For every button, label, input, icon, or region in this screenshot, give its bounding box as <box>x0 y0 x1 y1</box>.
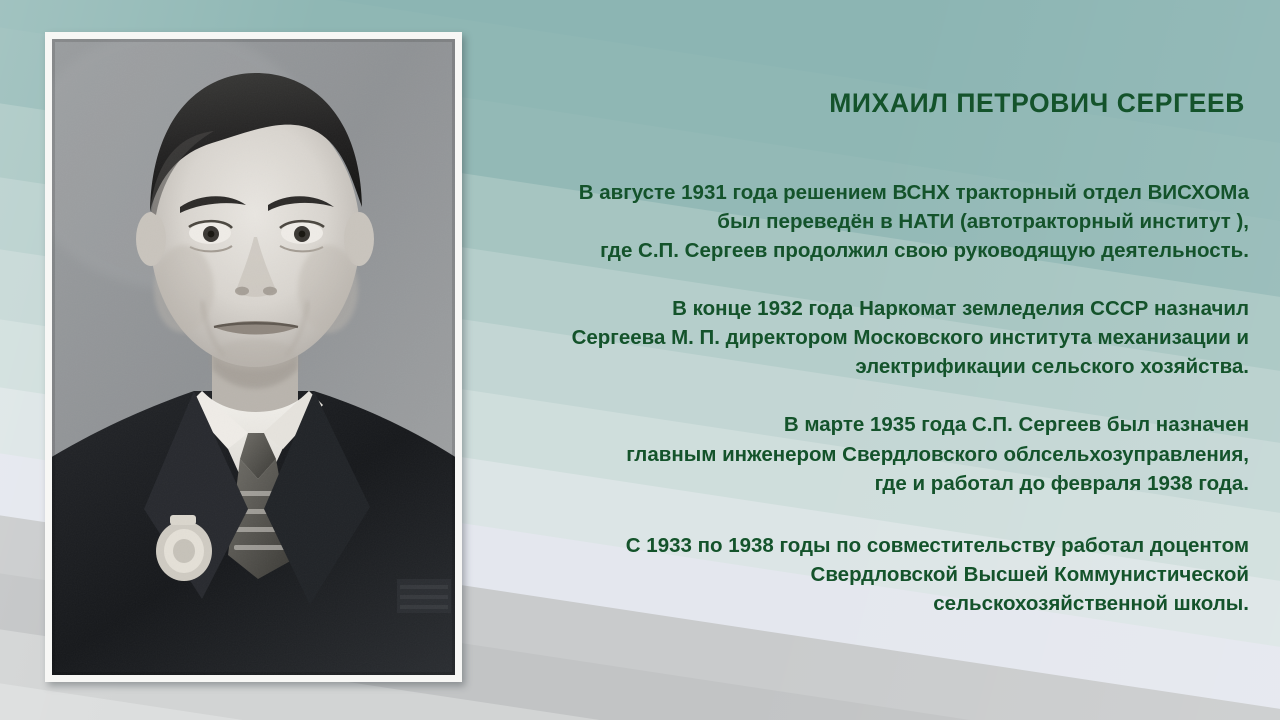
paragraph-4-line-1: С 1933 по 1938 годы по совместительству … <box>495 531 1249 560</box>
paragraph-1-line-1: В августе 1931 года решением ВСНХ тракто… <box>495 178 1249 207</box>
paragraph-4-line-3: сельскохозяйственной школы. <box>495 589 1249 618</box>
paragraph-3-line-3: где и работал до февраля 1938 года. <box>495 469 1249 498</box>
paragraph-1: В августе 1931 года решением ВСНХ тракто… <box>495 178 1255 265</box>
paragraph-3-line-2: главным инженером Свердловского облсельх… <box>495 440 1249 469</box>
portrait-photo <box>52 39 455 675</box>
presentation-slide: МИХАИЛ ПЕТРОВИЧ СЕРГЕЕВ В августе 1931 г… <box>0 0 1280 720</box>
text-column: МИХАИЛ ПЕТРОВИЧ СЕРГЕЕВ В августе 1931 г… <box>495 0 1255 720</box>
portrait-illustration <box>52 39 455 675</box>
paragraph-3-line-1: В марте 1935 года С.П. Сергеев был назна… <box>495 410 1249 439</box>
paragraph-2-line-1: В конце 1932 года Наркомат земледелия СС… <box>495 294 1249 323</box>
page-title: МИХАИЛ ПЕТРОВИЧ СЕРГЕЕВ <box>495 0 1255 120</box>
paragraph-4: С 1933 по 1938 годы по совместительству … <box>495 531 1255 618</box>
paragraph-2: В конце 1932 года Наркомат земледелия СС… <box>495 294 1255 381</box>
paragraph-3: В марте 1935 года С.П. Сергеев был назна… <box>495 410 1255 497</box>
paragraph-4-line-2: Свердловской Высшей Коммунистической <box>495 560 1249 589</box>
paragraph-2-line-2: Сергеева М. П. директором Московского ин… <box>495 323 1249 352</box>
paragraph-2-line-3: электрификации сельского хозяйства. <box>495 352 1249 381</box>
paragraph-1-line-3: где С.П. Сергеев продолжил свою руководя… <box>495 236 1249 265</box>
portrait-photo-frame <box>45 32 462 682</box>
paragraph-1-line-2: был переведён в НАТИ (автотракторный инс… <box>495 207 1249 236</box>
